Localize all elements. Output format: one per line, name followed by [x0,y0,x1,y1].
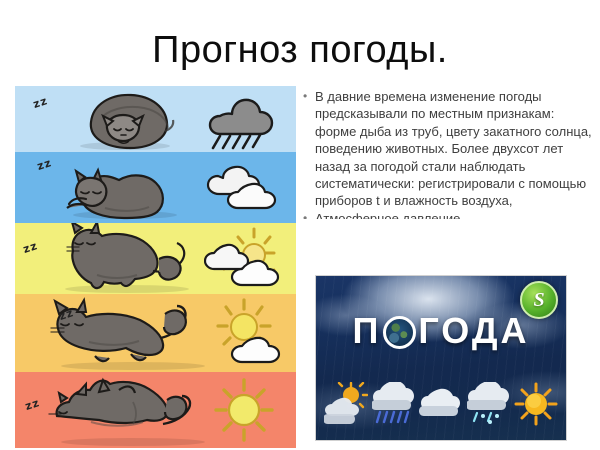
side-lying-cat-icon [45,223,200,294]
sun-behind-clouds-icon [204,223,282,294]
loaf-sleeping-cat-icon [45,152,200,223]
sun-icon [514,382,558,426]
sleet-cloud-icon [467,382,511,426]
cloud-icon [419,382,463,426]
sun-with-cloud-icon [204,294,282,372]
curled-ball-cat-icon [45,86,200,152]
sun-behind-cloud-icon [324,382,368,426]
photo-headline-part-2: ГОДА [418,310,529,352]
bullet-item: • В давние времена изменение погоды пред… [303,88,593,210]
chart-row-sunny: zz [15,372,296,448]
page-title: Прогноз погоды. [0,28,600,72]
chart-row-rain: zz [15,86,296,152]
photo-headline-part-1: П [353,310,382,352]
body-text-block: • В давние времена изменение погоды пред… [303,88,593,219]
cloud-icon [204,152,282,223]
globe-letter-o-icon [383,316,416,349]
rain-cloud-icon [204,86,282,152]
belly-up-sprawled-cat-icon [45,372,200,448]
bullet-text: В давние времена изменение погоды предск… [315,88,593,210]
stretched-out-cat-icon [45,294,200,372]
bullet-text: Атмосферное давление [315,210,593,219]
bullet-dot-icon: • [303,210,315,219]
chart-row-mostly-sunny: zz [15,294,296,372]
rain-cloud-icon [372,382,416,426]
bullet-item-clipped: • Атмосферное давление [303,210,593,219]
s-badge-logo: S [520,281,558,319]
weather-photo: П ГОДА S [316,276,566,440]
photo-weather-icon-strip [324,378,558,426]
sun-icon [204,372,282,448]
chart-row-cloudy: zz [15,152,296,223]
chart-row-partly-sunny: zz [15,223,296,294]
bullet-dot-icon: • [303,88,315,105]
cat-weather-chart: zz [15,86,296,448]
